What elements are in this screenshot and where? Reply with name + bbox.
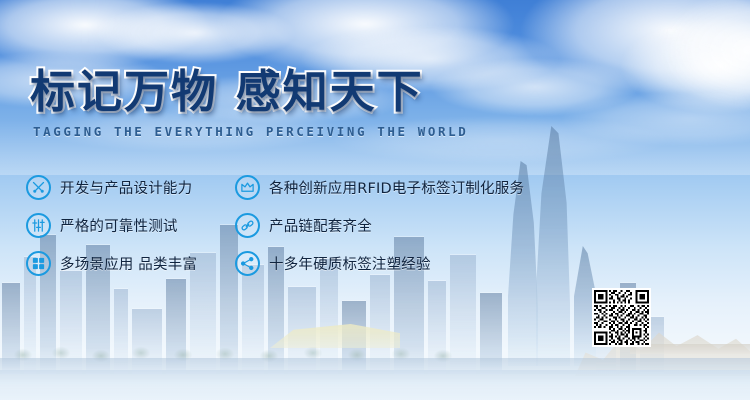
feature-label: 产品链配套齐全: [269, 215, 372, 236]
feature-label: 十多年硬质标签注塑经验: [269, 253, 431, 274]
feature-label: 开发与产品设计能力: [60, 177, 192, 198]
feature-item: 多场景应用 品类丰富: [26, 244, 231, 282]
feature-item: 各种创新应用RFID电子标签订制化服务: [235, 168, 524, 206]
crown-icon: [235, 175, 260, 200]
feature-item: 十多年硬质标签注塑经验: [235, 244, 524, 282]
feature-item: 严格的可靠性测试: [26, 206, 231, 244]
feature-item: 产品链配套齐全: [235, 206, 524, 244]
feature-label: 严格的可靠性测试: [60, 215, 178, 236]
share-nodes-icon: [235, 251, 260, 276]
feature-label: 多场景应用 品类丰富: [60, 253, 197, 274]
sliders-icon: [26, 213, 51, 238]
headline-block: 标记万物 感知天下 TAGGING THE EVERYTHING PERCEIV…: [30, 68, 468, 139]
grid-squares-icon: [26, 251, 51, 276]
qr-code[interactable]: [592, 288, 651, 347]
qr-code-image: [594, 290, 649, 345]
feature-list: 开发与产品设计能力 各种创新应用RFID电子标签订制化服务 严格的可靠性测试: [26, 168, 524, 282]
water-surface: [0, 370, 750, 400]
crossed-tools-icon: [26, 175, 51, 200]
banner-title: 标记万物 感知天下: [30, 68, 468, 117]
marketing-banner: 标记万物 感知天下 TAGGING THE EVERYTHING PERCEIV…: [0, 0, 750, 400]
banner-subtitle: TAGGING THE EVERYTHING PERCEIVING THE WO…: [33, 124, 468, 139]
feature-label: 各种创新应用RFID电子标签订制化服务: [269, 177, 524, 198]
chain-link-icon: [235, 213, 260, 238]
feature-item: 开发与产品设计能力: [26, 168, 231, 206]
